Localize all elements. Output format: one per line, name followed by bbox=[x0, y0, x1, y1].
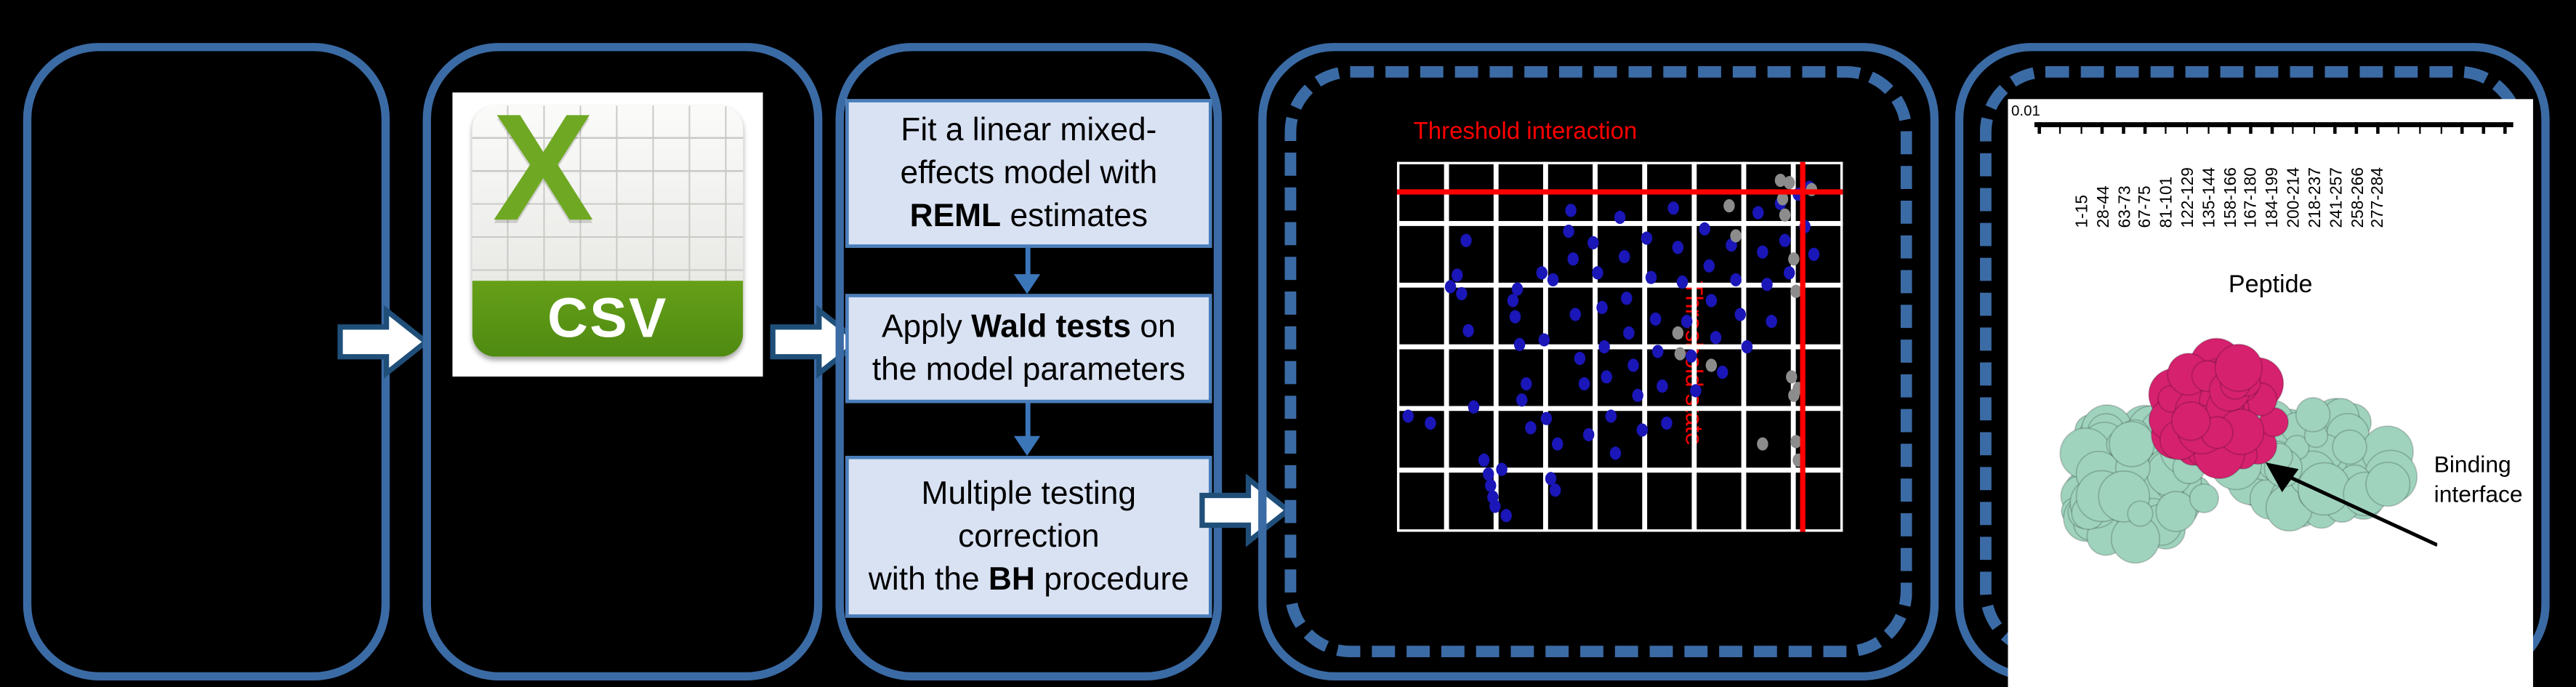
peptide-axis-tick bbox=[2228, 122, 2230, 134]
peptide-tick-label: 218-237 bbox=[2307, 167, 2325, 228]
peptide-axis-tick bbox=[2165, 122, 2167, 134]
arrow-shaft bbox=[1026, 403, 1031, 438]
flow-arrow-1 bbox=[337, 305, 429, 378]
excel-x-icon: X bbox=[482, 109, 604, 238]
csv-badge: X CSV bbox=[472, 105, 744, 356]
volcano-scatter-chart: Threshold interaction Threshold state bbox=[1337, 73, 1866, 618]
step-connector-arrow-1 bbox=[1013, 248, 1045, 294]
binding-interface-annotation: Binding interface bbox=[2434, 449, 2523, 509]
step-wald-text: Apply Wald tests on the model parameters bbox=[858, 305, 1199, 391]
step-reml-box[interactable]: Fit a linear mixed-effects model with RE… bbox=[845, 99, 1212, 247]
peptide-axis-tick bbox=[2419, 122, 2421, 134]
input-panel bbox=[23, 43, 390, 680]
y-axis-tick-label: 0.01 bbox=[2011, 103, 2040, 119]
peptide-tick-label: 67-75 bbox=[2138, 185, 2156, 228]
peptide-tick-label: 258-266 bbox=[2349, 167, 2367, 228]
peptide-axis-tick bbox=[2355, 122, 2357, 134]
peptide-tick-label: 1-15 bbox=[2074, 195, 2092, 228]
peptide-axis-tick bbox=[2207, 122, 2209, 134]
peptide-axis-tick bbox=[2271, 122, 2273, 134]
peptide-axis-tick bbox=[2186, 122, 2188, 134]
peptide-tick-label: 135-144 bbox=[2201, 167, 2219, 228]
peptide-axis-tick bbox=[2461, 122, 2463, 134]
step-wald-box[interactable]: Apply Wald tests on the model parameters bbox=[845, 294, 1212, 403]
peptide-axis-tick bbox=[2037, 122, 2040, 134]
arrow-head bbox=[1014, 436, 1040, 456]
csv-extension-label: CSV bbox=[472, 281, 744, 357]
peptide-axis-tick bbox=[2101, 122, 2104, 134]
peptide-axis-tick bbox=[2059, 122, 2061, 134]
step-bh-text: Multiple testing correctionwith the BH p… bbox=[858, 473, 1199, 601]
scatter-plot-area bbox=[1397, 162, 1843, 532]
peptide-tick-label: 241-257 bbox=[2328, 167, 2346, 228]
peptide-axis-tick bbox=[2503, 122, 2505, 134]
peptide-tick-label: 81-101 bbox=[2159, 177, 2177, 228]
step-reml-text: Fit a linear mixed-effects model with RE… bbox=[858, 109, 1199, 238]
peptide-axis-tick bbox=[2292, 122, 2294, 134]
peptide-axis-tick bbox=[2482, 122, 2484, 134]
threshold-interaction-label: Threshold interaction bbox=[1414, 119, 1638, 145]
peptide-tick-label: 158-166 bbox=[2222, 167, 2240, 228]
peptide-axis-title: Peptide bbox=[2008, 271, 2533, 300]
peptide-tick-label: 63-73 bbox=[2116, 185, 2134, 228]
peptide-tick-label: 200-214 bbox=[2285, 167, 2303, 228]
peptide-axis-tick bbox=[2250, 122, 2252, 134]
peptide-axis-tick bbox=[2144, 122, 2146, 134]
results-white-card: 0.01 1-1528-4463-7367-7581-101122-129135… bbox=[2008, 99, 2533, 687]
peptide-tick-label: 122-129 bbox=[2180, 167, 2198, 228]
peptide-tick-label: 184-199 bbox=[2264, 167, 2282, 228]
arrow-head bbox=[1014, 274, 1040, 294]
peptide-axis-tick bbox=[2376, 122, 2378, 134]
peptide-axis-tick bbox=[2080, 122, 2082, 134]
peptide-tick-label: 167-180 bbox=[2243, 167, 2261, 228]
peptide-axis-tick bbox=[2313, 122, 2315, 134]
peptide-axis-tick bbox=[2397, 122, 2399, 134]
binding-interface-line1: Binding bbox=[2434, 449, 2523, 479]
peptide-tick-label: 28-44 bbox=[2095, 185, 2113, 228]
protein-structure-image bbox=[2024, 310, 2437, 608]
step-connector-arrow-2 bbox=[1013, 403, 1045, 456]
peptide-axis-tick bbox=[2440, 122, 2442, 134]
diagram-stage: X CSV Fit a linear mixed-effects model w… bbox=[0, 0, 2576, 687]
peptide-tick-label: 277-284 bbox=[2370, 167, 2388, 228]
step-bh-box[interactable]: Multiple testing correctionwith the BH p… bbox=[845, 456, 1212, 618]
peptide-axis-tick bbox=[2334, 122, 2336, 134]
arrow-shaft bbox=[1026, 248, 1031, 276]
binding-interface-line2: interface bbox=[2434, 479, 2523, 509]
peptide-axis-tick bbox=[2122, 122, 2125, 134]
csv-file-icon[interactable]: X CSV bbox=[452, 92, 762, 377]
